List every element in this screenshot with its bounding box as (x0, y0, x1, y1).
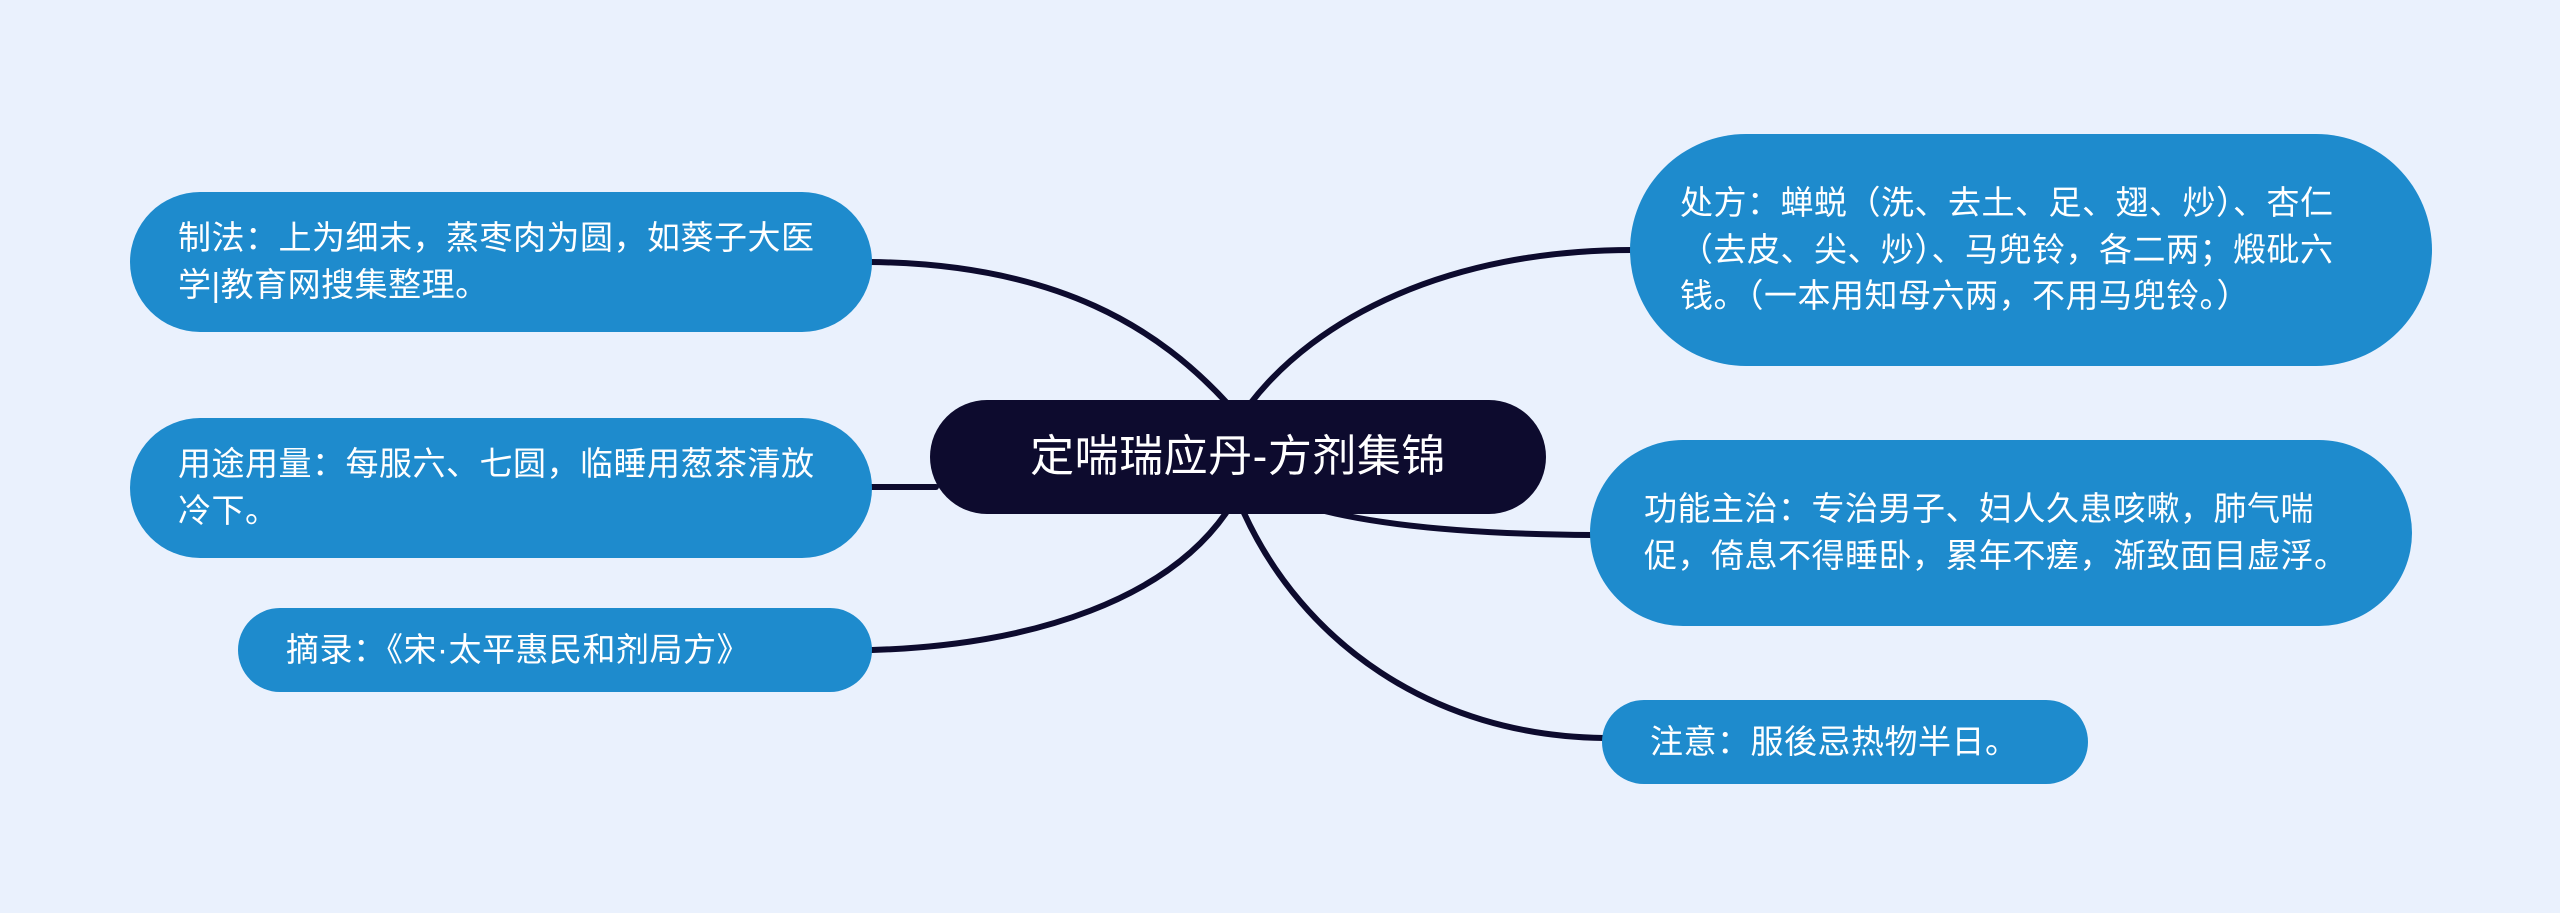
branch-node-label: 摘录：《宋·太平惠民和剂局方》 (286, 627, 838, 674)
mindmap-canvas: 定喘瑞应丹-方剂集锦 制法：上为细末，蒸枣肉为圆，如葵子大医学|教育网搜集整理。… (0, 0, 2560, 913)
connector-root-chufang (1250, 250, 1632, 404)
mindmap-branch-node-zhuyi[interactable]: 注意：服後忌热物半日。 (1602, 700, 2088, 784)
mindmap-branch-node-zhailu[interactable]: 摘录：《宋·太平惠民和剂局方》 (238, 608, 872, 692)
mindmap-branch-node-yongtu[interactable]: 用途用量：每服六、七圆，临睡用葱茶清放冷下。 (130, 418, 872, 558)
branch-node-label: 注意：服後忌热物半日。 (1650, 719, 2054, 766)
branch-node-label: 功能主治：专治男子、妇人久患咳嗽，肺气喘促，倚息不得睡卧，累年不瘥，渐致面目虚浮… (1644, 486, 2372, 580)
branch-node-label: 制法：上为细末，蒸枣肉为圆，如葵子大医学|教育网搜集整理。 (178, 215, 838, 309)
mindmap-branch-node-chufang[interactable]: 处方：蝉蜕（洗、去土、足、翅、炒）、杏仁（去皮、尖、炒）、马兜铃，各二两；煅砒六… (1630, 134, 2432, 366)
mindmap-branch-node-zhifa[interactable]: 制法：上为细末，蒸枣肉为圆，如葵子大医学|教育网搜集整理。 (130, 192, 872, 332)
connector-root-zhifa (870, 262, 1228, 404)
branch-node-label: 处方：蝉蜕（洗、去土、足、翅、炒）、杏仁（去皮、尖、炒）、马兜铃，各二两；煅砒六… (1680, 180, 2392, 321)
connector-root-zhuyi (1244, 513, 1604, 738)
root-node-label: 定喘瑞应丹-方剂集锦 (930, 431, 1546, 484)
mindmap-branch-node-gongneng[interactable]: 功能主治：专治男子、妇人久患咳嗽，肺气喘促，倚息不得睡卧，累年不瘥，渐致面目虚浮… (1590, 440, 2412, 626)
mindmap-root-node[interactable]: 定喘瑞应丹-方剂集锦 (930, 400, 1546, 514)
connector-root-zhailu (872, 513, 1226, 650)
branch-node-label: 用途用量：每服六、七圆，临睡用葱茶清放冷下。 (178, 441, 838, 535)
